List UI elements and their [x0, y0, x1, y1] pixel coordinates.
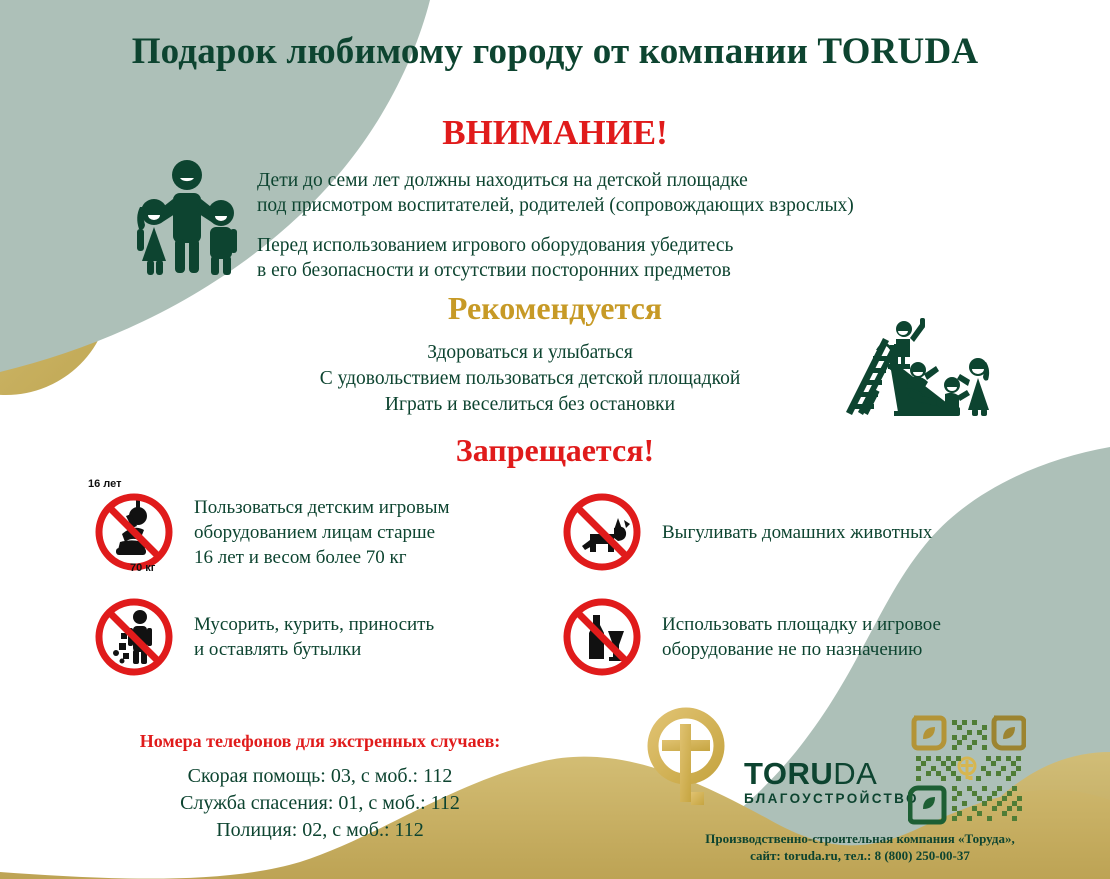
logo-name-light: DA	[833, 756, 877, 791]
logo-name-bold: TORU	[744, 756, 833, 791]
recommended-l1: Здороваться и улыбаться	[230, 340, 830, 366]
attention-p2-l1: Перед использованием игрового оборудован…	[257, 233, 1017, 258]
forbidden-item-0: 16 лет 70 кг Пользоваться детским игровы…	[92, 490, 450, 574]
playground-slide-icon	[828, 312, 993, 416]
family-icon	[126, 157, 248, 279]
forbidden-2-l1: Мусорить, курить, приносить	[194, 612, 434, 637]
forbidden-item-2-text: Мусорить, курить, приносить и оставлять …	[194, 612, 434, 662]
logo-wordmark: TORUDA БЛАГОУСТРОЙСТВО	[744, 758, 919, 807]
attention-p2-l2: в его безопасности и отсутствии посторон…	[257, 258, 1017, 283]
forbidden-3-l2: оборудование не по назначению	[662, 637, 941, 662]
emergency-police: Полиция: 02, с моб.: 112	[60, 817, 580, 844]
footer-company-info: Производственно-строительная компания «Т…	[620, 830, 1100, 864]
logo-name: TORUDA	[744, 758, 919, 790]
forbidden-1-l1: Выгуливать домашних животных	[662, 520, 932, 545]
emergency-title: Номера телефонов для экстренных случаев:	[60, 731, 580, 752]
footer-l2: сайт: toruda.ru, тел.: 8 (800) 250-00-37	[620, 847, 1100, 864]
attention-p1-l1: Дети до семи лет должны находиться на де…	[257, 168, 1017, 193]
toruda-t-monogram-icon	[640, 706, 732, 816]
no-alcohol-icon	[560, 595, 644, 679]
page-title: Подарок любимому городу от компании TORU…	[0, 30, 1110, 73]
forbidden-item-2: Мусорить, курить, приносить и оставлять …	[92, 595, 434, 679]
forbidden-0-l1: Пользоваться детским игровым	[194, 495, 450, 520]
no-pets-icon	[560, 490, 644, 574]
footer-l1: Производственно-строительная компания «Т…	[620, 830, 1100, 847]
weight-limit-label: 70 кг	[130, 562, 155, 574]
qr-code-icon[interactable]	[908, 712, 1026, 830]
forbidden-heading: Запрещается!	[0, 432, 1110, 469]
forbidden-item-3: Использовать площадку и игровое оборудов…	[560, 595, 941, 679]
recommended-l3: Играть и веселиться без остановки	[230, 392, 830, 418]
forbidden-item-3-text: Использовать площадку и игровое оборудов…	[662, 612, 941, 662]
company-logo: TORUDA БЛАГОУСТРОЙСТВО	[640, 706, 910, 816]
forbidden-2-l2: и оставлять бутылки	[194, 637, 434, 662]
age-limit-label: 16 лет	[88, 478, 122, 490]
forbidden-item-1-text: Выгуливать домашних животных	[662, 520, 932, 545]
recommended-l2: С удовольствием пользоваться детской пло…	[230, 366, 830, 392]
forbidden-item-0-text: Пользоваться детским игровым оборудовани…	[194, 495, 450, 570]
no-heavy-rider-icon: 16 лет 70 кг	[92, 490, 176, 574]
recommended-text-block: Здороваться и улыбаться С удовольствием …	[230, 340, 830, 418]
logo-subtitle: БЛАГОУСТРОЙСТВО	[744, 790, 919, 807]
no-littering-icon	[92, 595, 176, 679]
attention-text-block: Дети до семи лет должны находиться на де…	[257, 168, 1017, 283]
emergency-list: Скорая помощь: 03, с моб.: 112 Служба сп…	[60, 763, 580, 844]
forbidden-0-l3: 16 лет и весом более 70 кг	[194, 545, 450, 570]
attention-p1-l2: под присмотром воспитателей, родителей (…	[257, 193, 1017, 218]
attention-heading: ВНИМАНИЕ!	[0, 113, 1110, 153]
forbidden-item-1: Выгуливать домашних животных	[560, 490, 932, 574]
forbidden-0-l2: оборудованием лицам старше	[194, 520, 450, 545]
forbidden-3-l1: Использовать площадку и игровое	[662, 612, 941, 637]
emergency-ambulance: Скорая помощь: 03, с моб.: 112	[60, 763, 580, 790]
poster-root: Подарок любимому городу от компании TORU…	[0, 0, 1110, 879]
emergency-rescue: Служба спасения: 01, с моб.: 112	[60, 790, 580, 817]
